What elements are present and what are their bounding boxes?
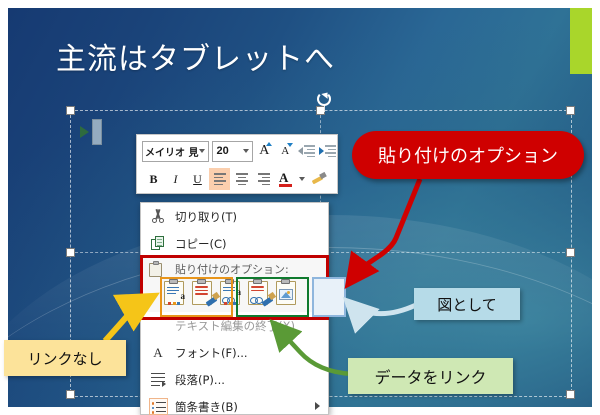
mini-toolbar-row-2: B I U A (137, 165, 337, 193)
font-name-combo[interactable]: メイリオ 見 (142, 141, 209, 162)
chevron-down-icon[interactable] (243, 149, 249, 153)
callout-label: データをリンク (374, 364, 486, 388)
font-size-value: 20 (213, 145, 229, 157)
font-color-button[interactable]: A (275, 168, 296, 190)
highlight-box-as-picture (312, 277, 346, 317)
italic-icon: I (174, 172, 178, 187)
mini-toolbar-row-1: メイリオ 見 20 A A (137, 137, 337, 165)
screenshot-root: 主流はタブレットへ メイリオ 見 20 A A (0, 0, 600, 415)
italic-button[interactable]: I (165, 168, 186, 190)
font-color-icon: A (279, 172, 292, 187)
resize-handle-middle-right[interactable] (566, 248, 575, 257)
resize-handle-top-right[interactable] (566, 106, 575, 115)
callout-link-data: データをリンク (348, 358, 513, 394)
callout-as-picture: 図として (414, 288, 520, 320)
scissors-icon (141, 203, 175, 230)
menu-item-bullets[interactable]: 箇条書き(B) (141, 393, 328, 415)
menu-item-paragraph[interactable]: 段落(P)... (141, 366, 328, 393)
bold-button[interactable]: B (143, 168, 164, 190)
align-right-button[interactable] (253, 168, 274, 190)
menu-item-label: フォント(F)... (175, 345, 248, 361)
rotate-handle[interactable] (317, 92, 331, 106)
align-center-button[interactable] (231, 168, 252, 190)
paragraph-icon (141, 366, 175, 393)
menu-item-cut[interactable]: 切り取り(T) (141, 203, 328, 230)
resize-handle-top-left[interactable] (66, 106, 75, 115)
format-painter-button[interactable] (308, 168, 329, 190)
submenu-arrow-icon[interactable] (315, 402, 320, 410)
format-painter-icon (311, 172, 327, 186)
accent-bar-green (570, 8, 592, 74)
increase-indent-button[interactable] (317, 140, 337, 162)
font-a-icon: A (141, 339, 175, 366)
align-right-icon (257, 171, 270, 187)
resize-handle-bottom-left[interactable] (66, 390, 75, 399)
mini-formatting-toolbar[interactable]: メイリオ 見 20 A A (136, 134, 338, 194)
bold-icon: B (149, 172, 157, 187)
text-cursor (92, 119, 102, 145)
bullet-marker-icon (80, 126, 89, 138)
highlight-box-no-link (160, 277, 233, 317)
highlight-box-link-data (236, 277, 309, 317)
callout-paste-options: 貼り付けのオプション (352, 131, 584, 179)
chevron-down-icon (299, 177, 305, 181)
menu-item-copy[interactable]: コピー(C) (141, 230, 328, 257)
decrease-indent-button[interactable] (296, 140, 316, 162)
callout-label: 貼り付けのオプション (378, 142, 558, 168)
grow-font-button[interactable]: A (254, 140, 274, 162)
font-size-combo[interactable]: 20 (212, 141, 254, 162)
align-center-icon (235, 171, 248, 187)
shrink-font-button[interactable]: A (275, 140, 295, 162)
page-title: 主流はタブレットへ (56, 34, 335, 78)
underline-button[interactable]: U (187, 168, 208, 190)
increase-indent-icon (319, 144, 336, 158)
resize-handle-bottom-right[interactable] (566, 390, 575, 399)
callout-label: リンクなし (27, 348, 102, 369)
font-color-dropdown[interactable] (297, 168, 307, 190)
align-left-icon (214, 171, 226, 187)
menu-item-label: 切り取り(T) (175, 209, 237, 225)
copy-icon (141, 230, 175, 257)
menu-item-label: 段落(P)... (175, 372, 225, 388)
callout-label: 図として (437, 294, 497, 315)
callout-no-link: リンクなし (4, 340, 126, 376)
resize-handle-middle-left[interactable] (66, 248, 75, 257)
menu-item-label: コピー(C) (175, 236, 227, 252)
menu-item-font[interactable]: A フォント(F)... (141, 339, 328, 366)
bullets-icon (141, 393, 175, 415)
underline-icon: U (193, 172, 202, 187)
font-name-value: メイリオ 見 (143, 144, 198, 159)
align-left-button[interactable] (209, 168, 230, 190)
decrease-indent-icon (298, 144, 315, 158)
menu-item-label: 箇条書き(B) (175, 399, 238, 415)
chevron-down-icon[interactable] (199, 149, 205, 153)
